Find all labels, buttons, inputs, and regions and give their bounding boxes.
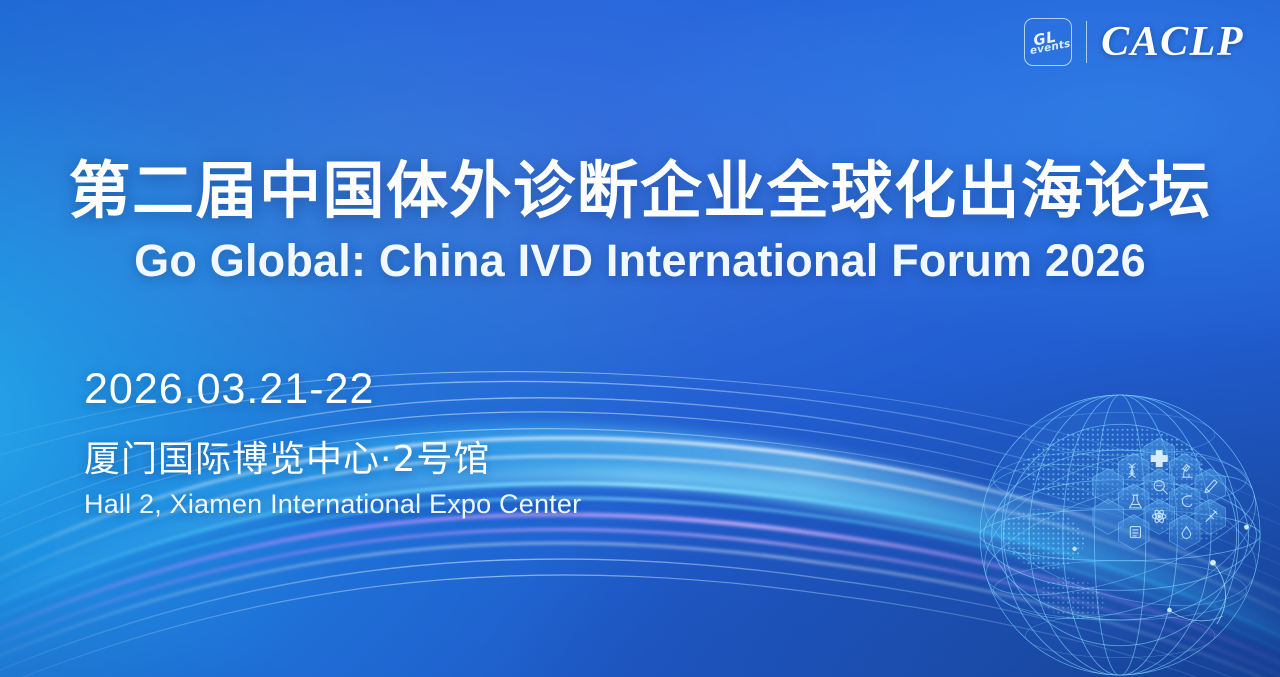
logo-divider — [1086, 21, 1088, 63]
brand-logo-row[interactable]: GL events CACLP — [1024, 18, 1244, 66]
event-date: 2026.03.21-22 — [84, 368, 581, 411]
caclp-wordmark[interactable]: CACLP — [1101, 18, 1244, 66]
event-banner: GL events CACLP 第二届中国体外诊断企业全球化出海论坛 Go Gl… — [0, 0, 1280, 677]
event-info-block: 2026.03.21-22 厦门国际博览中心·2号馆 Hall 2, Xiame… — [84, 368, 581, 520]
background-vignette — [0, 0, 1280, 677]
title-english: Go Global: China IVD International Forum… — [0, 236, 1280, 286]
gl-events-logo[interactable]: GL events — [1024, 18, 1072, 66]
event-venue-chinese: 厦门国际博览中心·2号馆 — [84, 439, 581, 480]
title-block: 第二届中国体外诊断企业全球化出海论坛 Go Global: China IVD … — [0, 158, 1280, 285]
event-venue-english: Hall 2, Xiamen International Expo Center — [84, 488, 581, 520]
title-chinese: 第二届中国体外诊断企业全球化出海论坛 — [0, 158, 1280, 224]
